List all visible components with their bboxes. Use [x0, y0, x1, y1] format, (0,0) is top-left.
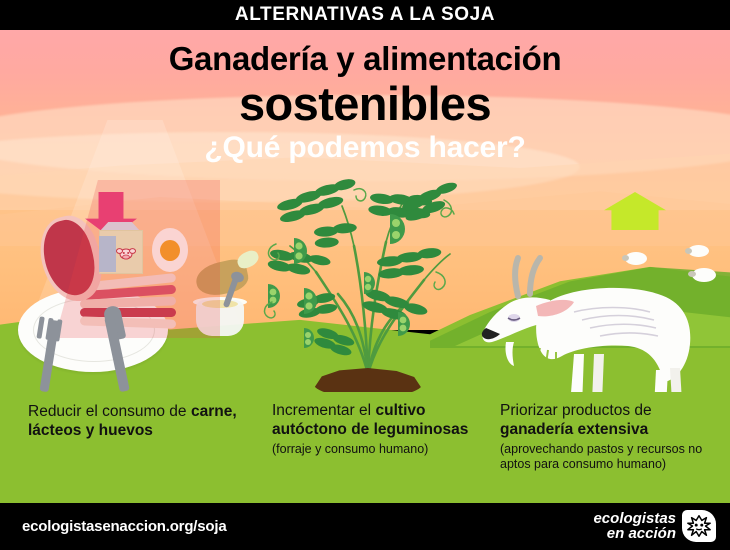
infographic-poster: ALTERNATIVAS A LA SOJA Ganadería y alime…	[0, 0, 730, 550]
caption-regular-text: Incrementar el	[272, 402, 371, 419]
banner-text: ALTERNATIVAS A LA SOJA	[235, 4, 495, 26]
sun-starburst-icon	[682, 510, 716, 542]
caption-regular-text: Priorizar productos de	[500, 402, 652, 419]
action-caption-leguminosas: Incrementar el cultivo autóctono de legu…	[272, 402, 487, 457]
caption-note-text: (forraje y consumo humano)	[272, 442, 487, 457]
caption-note-text: (aprovechando pastos y recursos no aptos…	[500, 442, 725, 472]
top-banner: ALTERNATIVAS A LA SOJA	[0, 0, 730, 30]
legume-plant-icon	[258, 176, 478, 376]
action-caption-ganaderia: Priorizar productos de ganadería extensi…	[500, 402, 725, 472]
page-title-line2: sostenibles	[0, 76, 730, 131]
page-title-line1: Ganadería y alimentación	[0, 40, 730, 78]
logo-line-1: ecologistas	[593, 511, 676, 526]
logo-text: ecologistas en acción	[593, 511, 676, 542]
caption-bold-text: ganadería extensiva	[500, 421, 648, 438]
page-subtitle: ¿Qué podemos hacer?	[0, 131, 730, 165]
organization-logo[interactable]: ecologistas en acción	[593, 510, 716, 542]
caption-regular-text: Reducir el consumo de	[28, 403, 187, 420]
action-caption-reducir: Reducir el consumo de carne, lácteos y h…	[28, 403, 248, 440]
logo-line-2: en acción	[593, 526, 676, 541]
website-url-link[interactable]: ecologistasenaccion.org/soja	[22, 518, 226, 535]
goat-icon	[478, 230, 728, 410]
